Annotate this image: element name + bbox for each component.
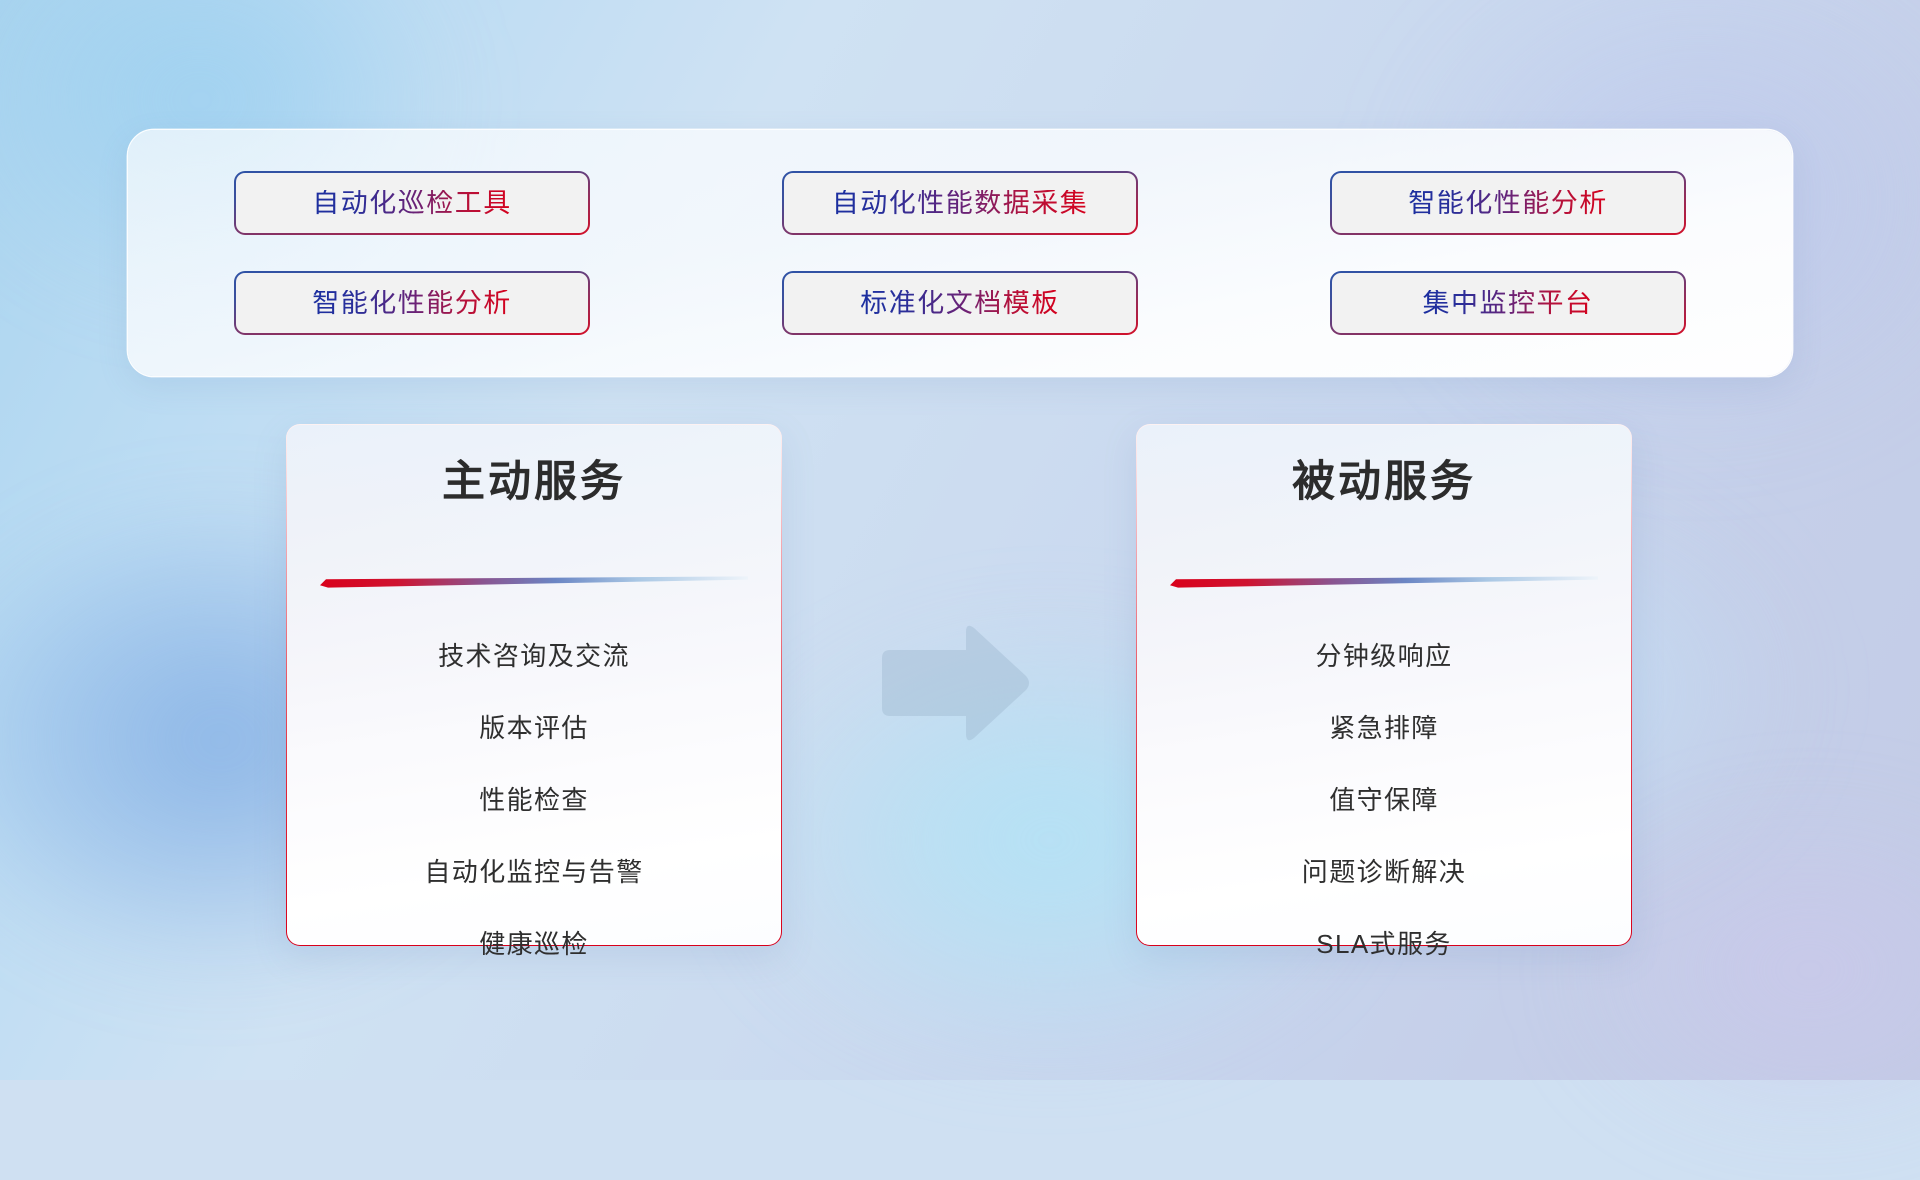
capability-pill[interactable]: 自动化性能数据采集: [782, 171, 1138, 235]
card-list-item: 分钟级响应: [1315, 620, 1452, 692]
capability-pill[interactable]: 智能化性能分析: [234, 271, 590, 335]
card-list-item: 版本评估: [479, 692, 589, 764]
card-divider: [1170, 576, 1598, 588]
capability-pill[interactable]: 智能化性能分析: [1330, 171, 1686, 235]
card-item-list: 分钟级响应 紧急排障 值守保障 问题诊断解决 SLA式服务: [1137, 620, 1631, 980]
card-list-item: 问题诊断解决: [1302, 836, 1466, 908]
card-divider: [320, 576, 748, 588]
capability-pill-inner: 智能化性能分析: [1332, 173, 1684, 233]
capability-pill-inner: 自动化性能数据采集: [784, 173, 1136, 233]
capability-pill-label: 自动化性能数据采集: [832, 190, 1089, 217]
capability-pill-inner: 自动化巡检工具: [236, 173, 588, 233]
service-card-reactive: 被动服务 分钟级响应 紧急排障 值守保障 问题诊断解决 SLA式服务: [1136, 424, 1632, 946]
capability-pill-label: 标准化文档模板: [860, 290, 1060, 317]
card-title: 主动服务: [442, 461, 626, 504]
capability-pill-grid: 自动化巡检工具 自动化性能数据采集 智能化性能分析 智能化性能分析 标准化文档模…: [234, 171, 1686, 335]
capability-panel: 自动化巡检工具 自动化性能数据采集 智能化性能分析 智能化性能分析 标准化文档模…: [128, 130, 1792, 376]
card-list-item: 值守保障: [1329, 764, 1439, 836]
capability-pill-inner: 标准化文档模板: [784, 273, 1136, 333]
flow-arrow-icon: [874, 622, 1032, 744]
card-item-list: 技术咨询及交流 版本评估 性能检查 自动化监控与告警 健康巡检: [287, 620, 781, 980]
service-card-proactive: 主动服务 技术咨询及交流 版本评估 性能检查 自动化监控与告警 健康巡检: [286, 424, 782, 946]
capability-pill[interactable]: 集中监控平台: [1330, 271, 1686, 335]
capability-pill-label: 集中监控平台: [1423, 290, 1594, 317]
capability-pill-label: 自动化巡检工具: [312, 190, 512, 217]
card-list-item: 紧急排障: [1329, 692, 1439, 764]
capability-pill-label: 智能化性能分析: [1408, 190, 1608, 217]
capability-pill-label: 智能化性能分析: [312, 290, 512, 317]
capability-pill-inner: 集中监控平台: [1332, 273, 1684, 333]
card-list-item: SLA式服务: [1316, 908, 1452, 980]
card-list-item: 健康巡检: [479, 908, 589, 980]
card-list-item: 自动化监控与告警: [424, 836, 643, 908]
card-list-item: 性能检查: [479, 764, 589, 836]
capability-pill-inner: 智能化性能分析: [236, 273, 588, 333]
card-list-item: 技术咨询及交流: [438, 620, 630, 692]
capability-pill[interactable]: 标准化文档模板: [782, 271, 1138, 335]
card-title: 被动服务: [1292, 461, 1476, 504]
capability-pill[interactable]: 自动化巡检工具: [234, 171, 590, 235]
